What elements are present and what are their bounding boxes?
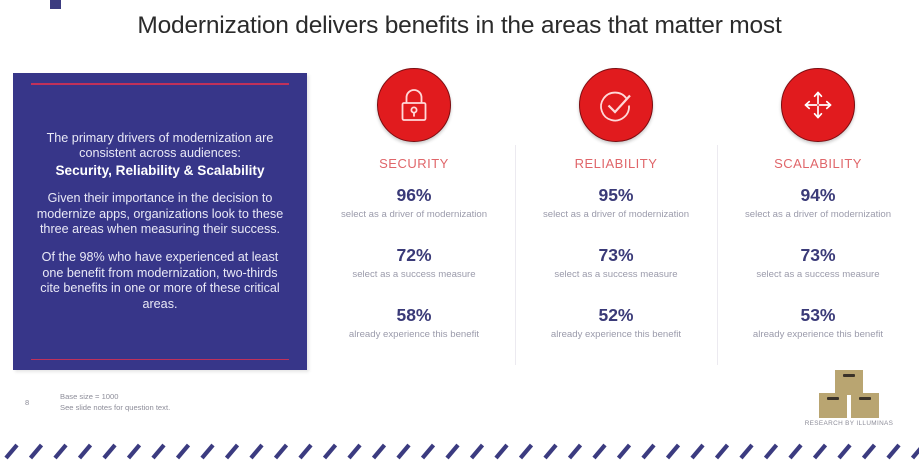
stat-driver-scalability: 94% select as a driver of modernization <box>745 185 891 221</box>
footnote-line-1: Base size = 1000 <box>60 392 170 403</box>
security-badge <box>377 68 451 142</box>
stat-value: 73% <box>554 245 677 266</box>
panel-paragraph-2: Given their importance in the decision t… <box>31 191 289 237</box>
reliability-badge <box>579 68 653 142</box>
panel-emphasis: Security, Reliability & Scalability <box>31 163 289 178</box>
stat-experienced-reliability: 52% already experience this benefit <box>551 305 681 341</box>
panel-paragraph-1-text: The primary drivers of modernization are… <box>47 131 274 160</box>
stat-columns: SECURITY 96% select as a driver of moder… <box>313 60 919 370</box>
stat-driver-security: 96% select as a driver of modernization <box>341 185 487 221</box>
stat-value: 73% <box>756 245 879 266</box>
logo-box-bottom-right <box>851 393 879 418</box>
stat-value: 72% <box>352 245 475 266</box>
bottom-hatch-decoration <box>0 438 919 462</box>
footnote: Base size = 1000 See slide notes for que… <box>60 392 170 413</box>
stat-value: 53% <box>753 305 883 326</box>
panel-bottom-rule <box>31 359 289 361</box>
panel-body: The primary drivers of modernization are… <box>31 85 289 359</box>
stat-success-security: 72% select as a success measure <box>352 245 475 281</box>
logo-boxes <box>816 370 882 418</box>
column-label-scalability: SCALABILITY <box>774 156 862 171</box>
panel-paragraph-3: Of the 98% who have experienced at least… <box>31 250 289 312</box>
stat-column-reliability: RELIABILITY 95% select as a driver of mo… <box>515 60 717 370</box>
stat-value: 52% <box>551 305 681 326</box>
stat-value: 96% <box>341 185 487 206</box>
stat-column-scalability: SCALABILITY 94% select as a driver of mo… <box>717 60 919 370</box>
expand-arrows-icon <box>798 85 838 125</box>
scalability-badge <box>781 68 855 142</box>
stat-caption: already experience this benefit <box>349 328 479 341</box>
stat-caption: select as a driver of modernization <box>543 208 689 221</box>
panel-paragraph-1: The primary drivers of modernization are… <box>31 131 289 178</box>
logo-caption: RESEARCH BY ILLUMINAS <box>787 420 911 427</box>
stat-success-reliability: 73% select as a success measure <box>554 245 677 281</box>
stat-value: 94% <box>745 185 891 206</box>
summary-panel: The primary drivers of modernization are… <box>13 73 307 370</box>
stat-column-security: SECURITY 96% select as a driver of moder… <box>313 60 515 370</box>
stat-caption: select as a driver of modernization <box>745 208 891 221</box>
column-label-reliability: RELIABILITY <box>575 156 658 171</box>
logo-box-bottom-left <box>819 393 847 418</box>
illuminas-logo: RESEARCH BY ILLUMINAS <box>787 370 911 427</box>
lock-icon <box>396 86 432 124</box>
stat-experienced-scalability: 53% already experience this benefit <box>753 305 883 341</box>
stat-caption: select as a success measure <box>554 268 677 281</box>
stat-value: 58% <box>349 305 479 326</box>
stat-driver-reliability: 95% select as a driver of modernization <box>543 185 689 221</box>
stat-experienced-security: 58% already experience this benefit <box>349 305 479 341</box>
stat-caption: already experience this benefit <box>753 328 883 341</box>
stat-caption: select as a success measure <box>352 268 475 281</box>
stat-caption: select as a driver of modernization <box>341 208 487 221</box>
stat-caption: select as a success measure <box>756 268 879 281</box>
footnote-line-2: See slide notes for question text. <box>60 403 170 414</box>
column-label-security: SECURITY <box>379 156 449 171</box>
check-circle-icon <box>596 85 636 125</box>
stat-success-scalability: 73% select as a success measure <box>756 245 879 281</box>
page-number: 8 <box>25 398 29 407</box>
page-title: Modernization delivers benefits in the a… <box>0 12 919 40</box>
stat-caption: already experience this benefit <box>551 328 681 341</box>
stat-value: 95% <box>543 185 689 206</box>
corner-accent-mark <box>50 0 61 9</box>
logo-box-top <box>835 370 863 395</box>
